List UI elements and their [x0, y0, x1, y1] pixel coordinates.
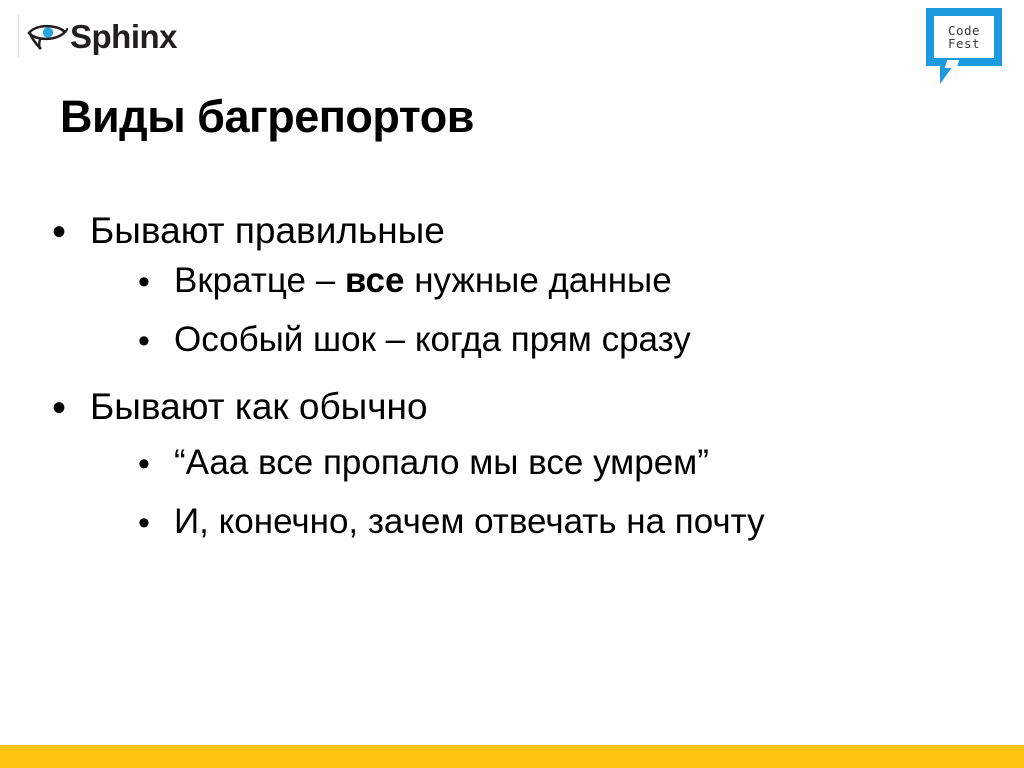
bullet-marker: •: [138, 502, 174, 540]
speech-bubble-icon: Code Fest: [926, 8, 1002, 66]
list-item-text: “Ааа все пропало мы все умрем”: [174, 443, 709, 484]
page-title: Виды багрепортов: [60, 92, 474, 142]
sphinx-wordmark: Sphinx: [70, 20, 177, 53]
codefest-logo: Code Fest: [926, 8, 1008, 90]
bullet-marker: •: [138, 320, 174, 358]
slide-body-content: • Бывают правильные • Вкратце – все нужн…: [52, 210, 952, 560]
list-item-text-emphasis: все: [345, 261, 405, 300]
list-item: • Вкратце – все нужные данные: [138, 261, 952, 302]
bullet-marker: •: [52, 386, 90, 428]
logo-divider-rule: [18, 15, 19, 57]
list-item-text: Особый шок – когда прям сразу: [174, 320, 691, 361]
bullet-marker: •: [138, 443, 174, 481]
sphinx-logo: Sphinx: [18, 14, 177, 58]
list-item: • “Ааа все пропало мы все умрем”: [138, 443, 952, 484]
codefest-logo-text: Code Fest: [934, 16, 994, 58]
eye-icon: [26, 21, 68, 51]
list-item-text-suffix: нужные данные: [404, 261, 671, 300]
bullet-marker: •: [138, 261, 174, 299]
list-item: • И, конечно, зачем отвечать на почту: [138, 502, 838, 543]
list-item-text: Бывают правильные: [90, 210, 445, 253]
list-item-text-prefix: Вкратце –: [174, 261, 345, 300]
codefest-line-2: Fest: [948, 37, 980, 50]
list-item: • Особый шок – когда прям сразу: [138, 320, 952, 361]
bullet-marker: •: [52, 210, 90, 252]
list-item: • Бывают как обычно: [52, 386, 952, 429]
speech-bubble-tail: [940, 66, 958, 84]
list-item-text: И, конечно, зачем отвечать на почту: [174, 502, 765, 543]
list-item-text: Бывают как обычно: [90, 386, 428, 429]
presentation-slide: Sphinx Code Fest Виды багрепортов • Быва…: [0, 0, 1024, 768]
footer-accent-bar: [0, 745, 1024, 768]
list-item-text: Вкратце – все нужные данные: [174, 261, 672, 302]
list-item: • Бывают правильные: [52, 210, 952, 253]
